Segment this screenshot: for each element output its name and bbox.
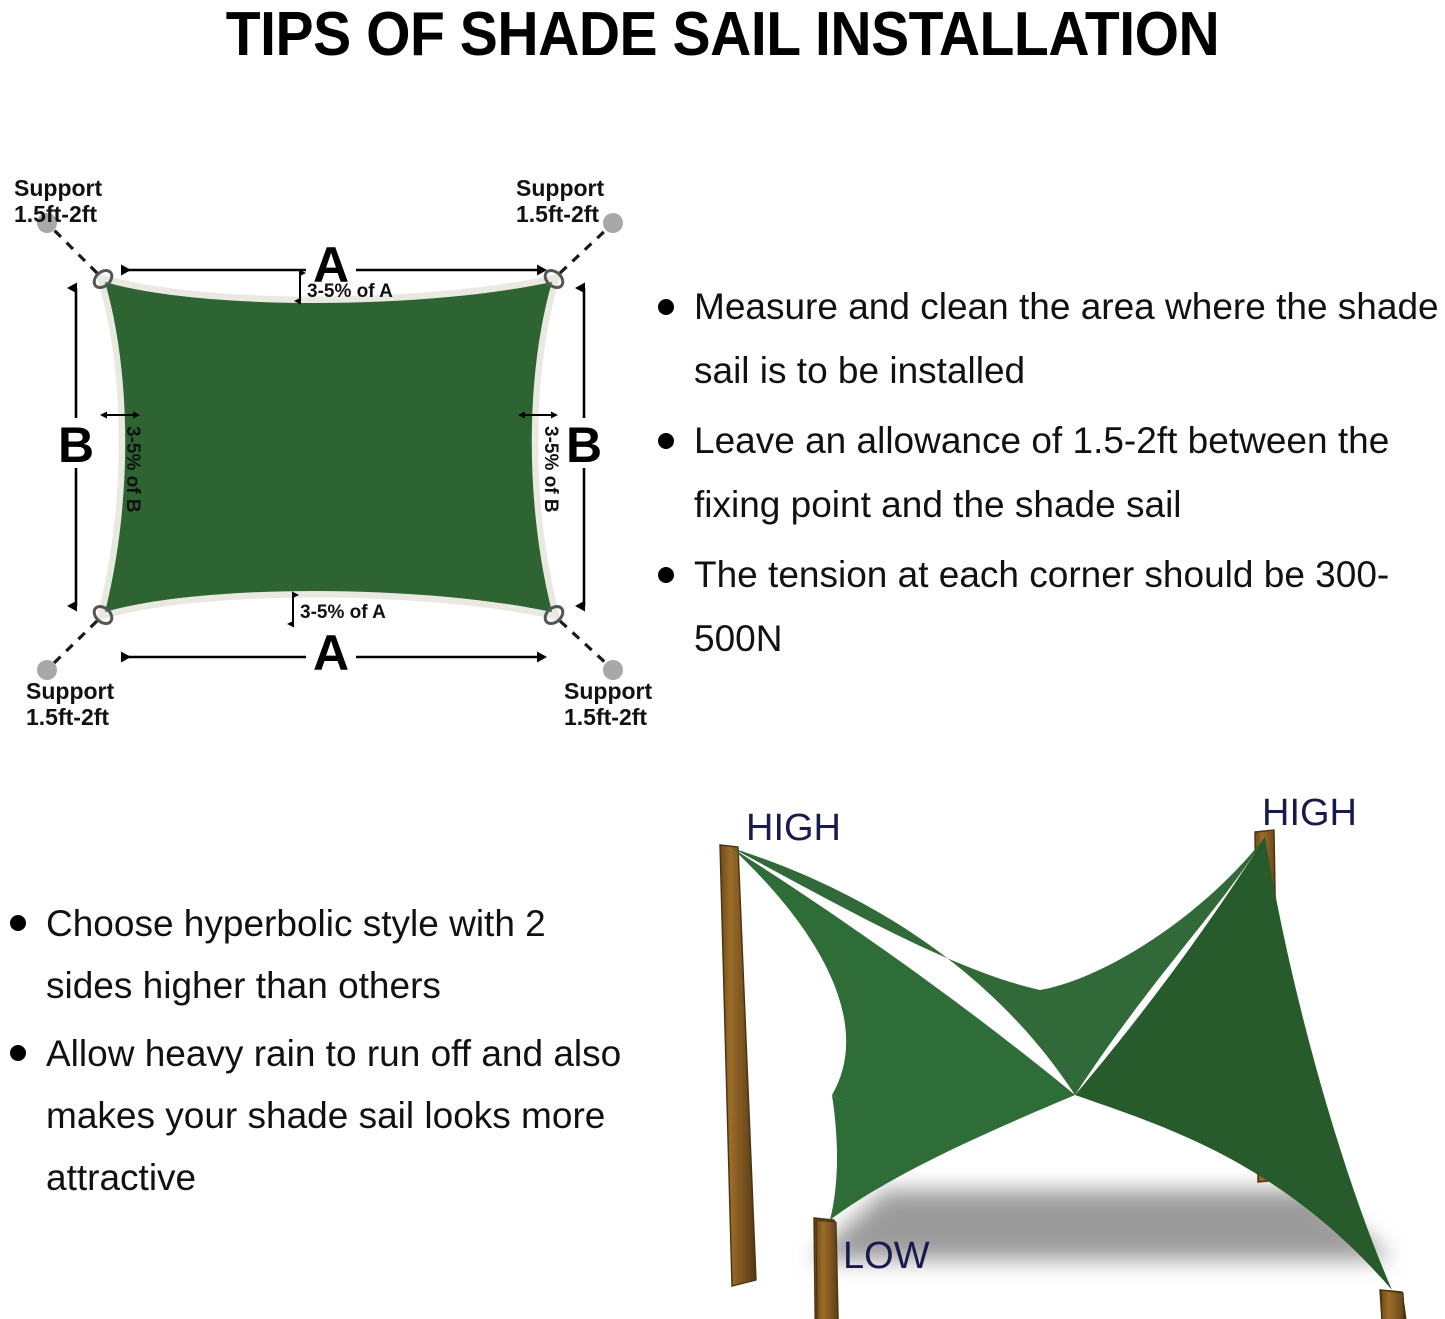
dimension-width-bottom: A xyxy=(122,625,538,681)
hyperbolic-item-1: Choose hyperbolic style with 2 sides hig… xyxy=(0,893,625,1017)
curvature-right-label: 3-5% of B xyxy=(540,426,561,513)
post-front-right-lower xyxy=(1381,1290,1408,1319)
rectangular-sail-diagram: Support 1.5ft-2ft Support 1.5ft-2ft Supp… xyxy=(0,160,660,740)
page-title: TIPS OF SHADE SAIL INSTALLATION xyxy=(58,0,1387,68)
support-label-bottom-right-line1: Support xyxy=(564,678,652,704)
cable-top-right xyxy=(560,228,608,273)
support-label-top-left-line1: Support xyxy=(14,175,102,201)
cable-bottom-right xyxy=(560,621,608,665)
support-label-top-right-line1: Support xyxy=(516,175,604,201)
curvature-left: 3-5% of B xyxy=(106,415,143,513)
post-back-left xyxy=(720,845,756,1286)
support-label-bottom-right-line2: 1.5ft-2ft xyxy=(564,704,647,730)
curvature-bottom-label: 3-5% of A xyxy=(300,602,386,623)
cable-top-left xyxy=(52,228,97,273)
support-label-bottom-left-line1: Support xyxy=(26,678,114,704)
support-dot-bottom-left xyxy=(37,660,57,680)
tip-item-3: The tension at each corner should be 300… xyxy=(648,543,1445,671)
hyperbolic-item-2: Allow heavy rain to run off and also mak… xyxy=(0,1023,625,1209)
label-low-left: LOW xyxy=(843,1235,930,1277)
sail-panel-left xyxy=(732,848,1075,1120)
curvature-left-label: 3-5% of B xyxy=(122,426,143,513)
hyperbolic-tips-list: Choose hyperbolic style with 2 sides hig… xyxy=(0,893,625,1215)
infographic-page: TIPS OF SHADE SAIL INSTALLATION xyxy=(0,0,1445,1319)
post-front-left-lower xyxy=(816,1220,840,1319)
dimension-label-B-right: B xyxy=(566,417,602,473)
installation-tips-list: Measure and clean the area where the sha… xyxy=(648,275,1445,677)
support-dot-bottom-right xyxy=(603,660,623,680)
cable-bottom-left xyxy=(52,621,97,665)
support-label-top-right-line2: 1.5ft-2ft xyxy=(516,201,599,227)
dimension-height-left: B xyxy=(58,288,94,606)
dimension-height-right: B xyxy=(566,288,602,606)
support-dot-top-right xyxy=(603,213,623,233)
dimension-label-B-left: B xyxy=(58,417,94,473)
dimension-label-A-bottom: A xyxy=(313,625,349,681)
support-label-bottom-left-line2: 1.5ft-2ft xyxy=(26,704,109,730)
tip-item-1: Measure and clean the area where the sha… xyxy=(648,275,1445,403)
label-high-left: HIGH xyxy=(746,807,841,849)
tip-item-2: Leave an allowance of 1.5-2ft between th… xyxy=(648,409,1445,537)
support-label-top-left-line2: 1.5ft-2ft xyxy=(14,201,97,227)
label-high-right: HIGH xyxy=(1262,792,1357,834)
curvature-bottom: 3-5% of A xyxy=(293,595,386,624)
sail-body xyxy=(105,282,552,612)
curvature-top-label: 3-5% of A xyxy=(307,281,393,302)
hyperbolic-sail-illustration: HIGH HIGH LOW LOW xyxy=(680,790,1445,1319)
